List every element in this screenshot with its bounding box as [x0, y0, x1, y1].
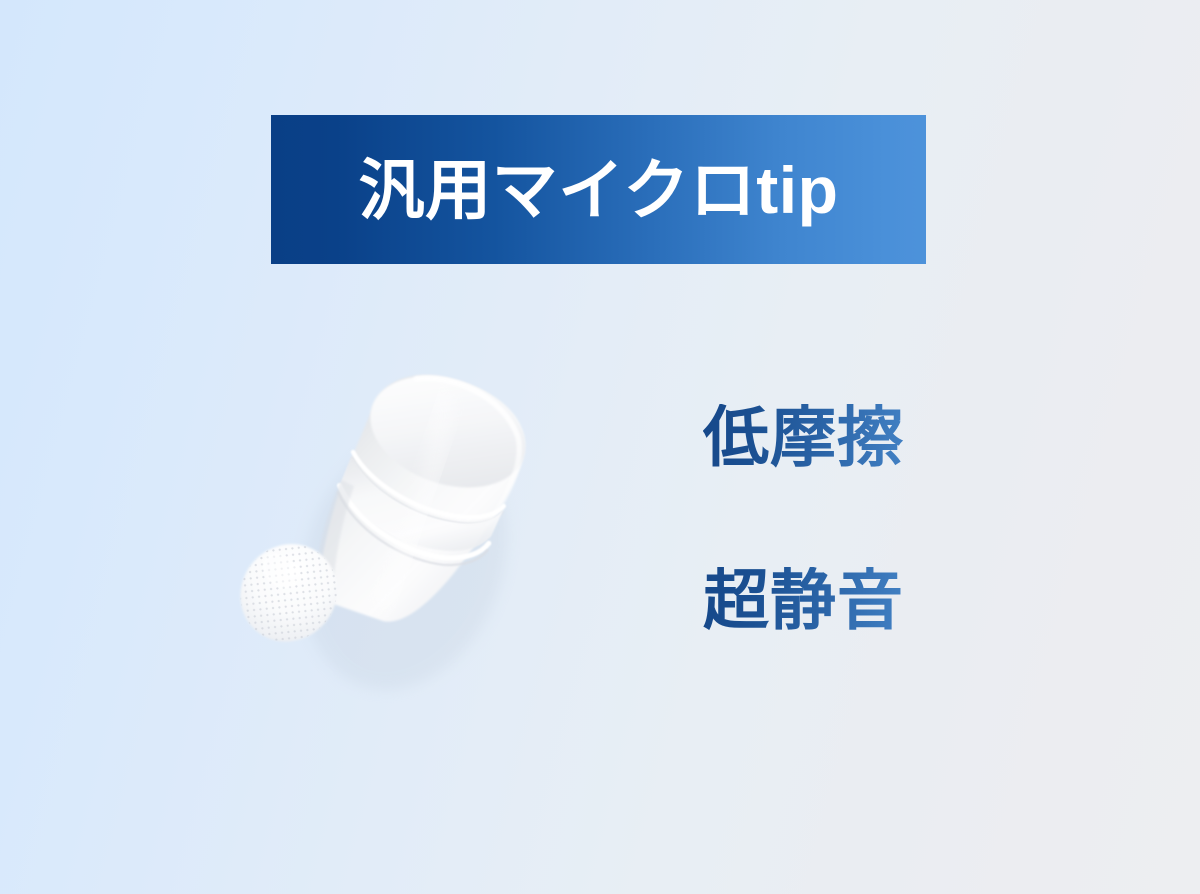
feature-list: 低摩擦 超静音: [703, 404, 1003, 633]
product-image: [236, 338, 576, 708]
feature-item-ultra-quiet: 超静音: [703, 567, 1003, 633]
feature-spacer: [703, 470, 1003, 567]
title-banner: 汎用マイクロtip: [271, 115, 926, 264]
page-title: 汎用マイクロtip: [359, 157, 839, 223]
feature-item-low-friction: 低摩擦: [703, 404, 1003, 470]
promo-banner-page: 汎用マイクロtip: [0, 0, 1200, 894]
